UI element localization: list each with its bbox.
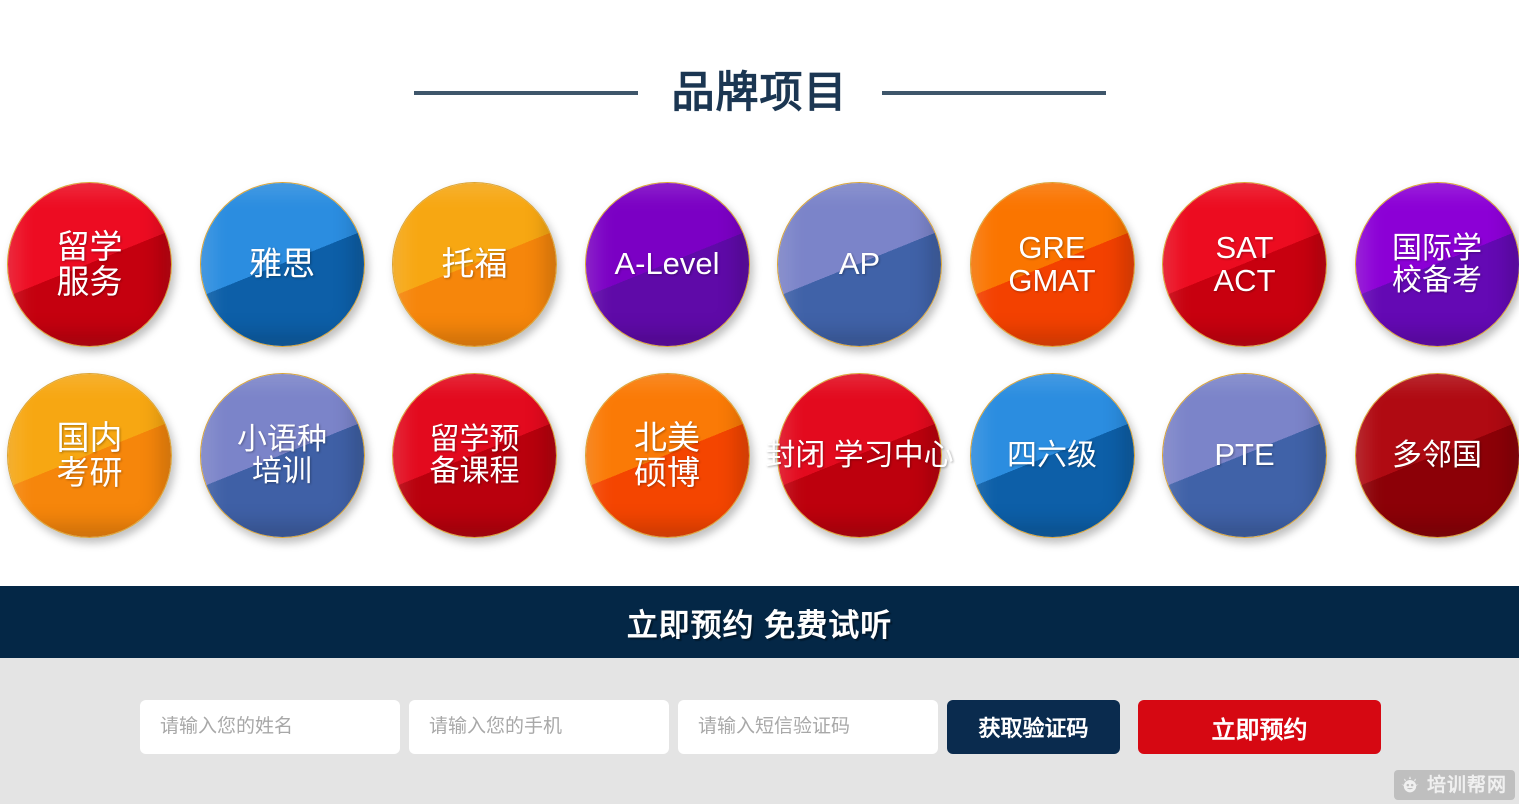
program-label: 四六级: [1005, 440, 1099, 472]
title-rule-right: [882, 91, 1106, 95]
program-row-2: 国内 考研 小语种 培训 留学预 备课程 北美 硕博 封闭 学习中心 四六级 P…: [8, 374, 1512, 537]
program-bubble-sat-act[interactable]: SAT ACT: [1163, 183, 1326, 346]
program-bubble-xiaoyuzhong-peixun[interactable]: 小语种 培训: [201, 374, 364, 537]
program-label: PTE: [1212, 439, 1276, 472]
program-label: AP: [837, 248, 882, 281]
site-watermark: 培训帮网: [1394, 770, 1515, 800]
program-bubble-yasi-ielts[interactable]: 雅思: [201, 183, 364, 346]
program-bubble-tuofu-toefl[interactable]: 托福: [393, 183, 556, 346]
program-label: 国际学 校备考: [1390, 233, 1484, 297]
submit-booking-button[interactable]: 立即预约: [1138, 700, 1381, 754]
title-rule-left: [414, 91, 638, 95]
program-bubble-si-liu-ji[interactable]: 四六级: [971, 374, 1134, 537]
booking-form-section: 获取验证码 立即预约: [0, 658, 1519, 804]
phone-input[interactable]: [409, 700, 669, 754]
program-label: 留学 服务: [55, 230, 125, 300]
program-row-1: 留学 服务 雅思 托福 A-Level AP GRE GMAT SAT ACT: [8, 183, 1512, 346]
watermark-label: 培训帮网: [1427, 776, 1507, 795]
program-label: 多邻国: [1390, 440, 1484, 472]
program-label: SAT ACT: [1212, 232, 1278, 298]
booking-form: 获取验证码 立即预约: [140, 700, 1381, 754]
program-bubble-a-level[interactable]: A-Level: [586, 183, 749, 346]
program-bubble-duolingguo[interactable]: 多邻国: [1356, 374, 1519, 537]
program-label: 雅思: [247, 247, 317, 282]
section-header: 品牌项目: [0, 62, 1519, 124]
program-label: 小语种 培训: [235, 424, 329, 488]
program-bubble-guojixuexiao-beikao[interactable]: 国际学 校备考: [1356, 183, 1519, 346]
sms-code-input[interactable]: [678, 700, 938, 754]
get-code-button[interactable]: 获取验证码: [947, 700, 1120, 754]
page-title: 品牌项目: [672, 72, 848, 115]
program-label: 北美 硕博: [632, 421, 702, 491]
program-label: GRE GMAT: [1006, 232, 1097, 298]
program-bubble-pte[interactable]: PTE: [1163, 374, 1326, 537]
program-label: 封闭 学习中心: [763, 440, 955, 472]
program-grid: 留学 服务 雅思 托福 A-Level AP GRE GMAT SAT ACT: [8, 183, 1512, 565]
program-label: 托福: [440, 247, 510, 282]
program-bubble-liuxue-yubei-kecheng[interactable]: 留学预 备课程: [393, 374, 556, 537]
cta-band: 立即预约 免费试听: [0, 586, 1519, 658]
program-label: 留学预 备课程: [428, 424, 522, 488]
program-bubble-fengbi-xuexi-zhongxin[interactable]: 封闭 学习中心: [778, 374, 941, 537]
program-bubble-beimei-shuobo[interactable]: 北美 硕博: [586, 374, 749, 537]
program-bubble-liuxue-fuwu[interactable]: 留学 服务: [8, 183, 171, 346]
sun-face-icon: [1400, 775, 1420, 795]
cta-headline: 立即预约 免费试听: [627, 600, 893, 645]
program-bubble-guonei-kaoyan[interactable]: 国内 考研: [8, 374, 171, 537]
name-input[interactable]: [140, 700, 400, 754]
program-label: 国内 考研: [55, 421, 125, 491]
program-bubble-ap[interactable]: AP: [778, 183, 941, 346]
program-label: A-Level: [612, 248, 721, 281]
program-bubble-gre-gmat[interactable]: GRE GMAT: [971, 183, 1134, 346]
